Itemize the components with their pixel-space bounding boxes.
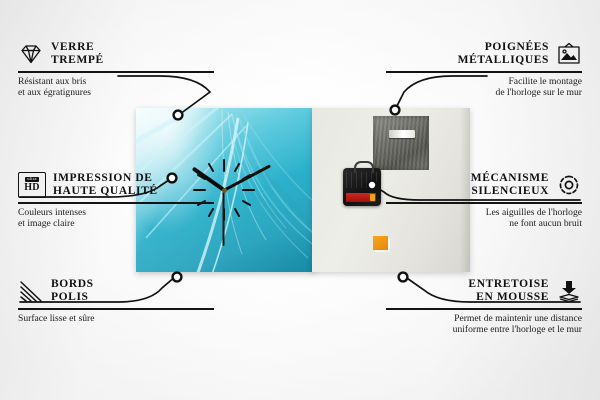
feature-mecanisme-silencieux: MÉCANISME SILENCIEUX Les aiguilles de l'… xyxy=(386,172,582,229)
feature-title: MÉCANISME SILENCIEUX xyxy=(471,172,549,198)
feature-header: MÉCANISME SILENCIEUX xyxy=(386,172,582,198)
clock-center-pin xyxy=(222,188,227,193)
feature-subtitle: Les aiguilles de l'horloge ne font aucun… xyxy=(386,207,582,230)
diagonal-lines-icon xyxy=(18,279,44,303)
feature-title: VERRE TREMPÉ xyxy=(51,41,104,67)
feature-title: POIGNÉES MÉTALLIQUES xyxy=(458,41,549,67)
feature-header: ultra HD IMPRESSION DE HAUTE QUALITÉ xyxy=(18,172,214,198)
feature-subtitle: Résistant aux bris et aux égratignures xyxy=(18,76,214,99)
battery xyxy=(346,193,376,202)
mechanism-detail xyxy=(346,172,378,188)
gear-icon xyxy=(556,173,582,197)
feature-header: ENTRETOISE EN MOUSSE xyxy=(386,278,582,304)
feature-entretoise-en-mousse: ENTRETOISE EN MOUSSE Permet de maintenir… xyxy=(386,278,582,335)
feature-header: POIGNÉES MÉTALLIQUES xyxy=(386,41,582,67)
diamond-icon xyxy=(18,42,44,66)
feature-bords-polis: BORDS POLIS Surface lisse et sûre xyxy=(18,278,214,324)
feature-rule xyxy=(18,202,214,204)
ultra-hd-large-text: HD xyxy=(24,183,40,193)
feature-rule xyxy=(386,71,582,73)
feature-title: IMPRESSION DE HAUTE QUALITÉ xyxy=(53,172,158,198)
feature-poignees-metalliques: POIGNÉES MÉTALLIQUES Facilite le montage… xyxy=(386,41,582,98)
feature-header: BORDS POLIS xyxy=(18,278,214,304)
feature-verre-trempe: VERRE TREMPÉ Résistant aux bris et aux é… xyxy=(18,41,214,98)
feature-impression-haute-qualite: ultra HD IMPRESSION DE HAUTE QUALITÉ Cou… xyxy=(18,172,214,229)
arrow-down-layers-icon xyxy=(556,279,582,303)
feature-rule xyxy=(386,202,582,204)
feature-subtitle: Couleurs intenses et image claire xyxy=(18,207,214,230)
feature-rule xyxy=(18,308,214,310)
picture-frame-hanger-icon xyxy=(556,42,582,66)
feature-rule xyxy=(386,308,582,310)
feature-subtitle: Surface lisse et sûre xyxy=(18,313,214,324)
infographic-canvas: VERRE TREMPÉ Résistant aux bris et aux é… xyxy=(0,0,600,400)
feature-header: VERRE TREMPÉ xyxy=(18,41,214,67)
feature-subtitle: Permet de maintenir une distance uniform… xyxy=(386,313,582,336)
ultra-hd-icon: ultra HD xyxy=(18,172,46,198)
clock-mechanism xyxy=(343,168,381,206)
hanger-slot xyxy=(389,130,415,138)
feature-rule xyxy=(18,71,214,73)
foam-spacer xyxy=(373,236,388,250)
feature-subtitle: Facilite le montage de l'horloge sur le … xyxy=(386,76,582,99)
feature-title: BORDS POLIS xyxy=(51,278,94,304)
metal-hanger-plate xyxy=(373,116,429,170)
feature-title: ENTRETOISE EN MOUSSE xyxy=(468,278,549,304)
